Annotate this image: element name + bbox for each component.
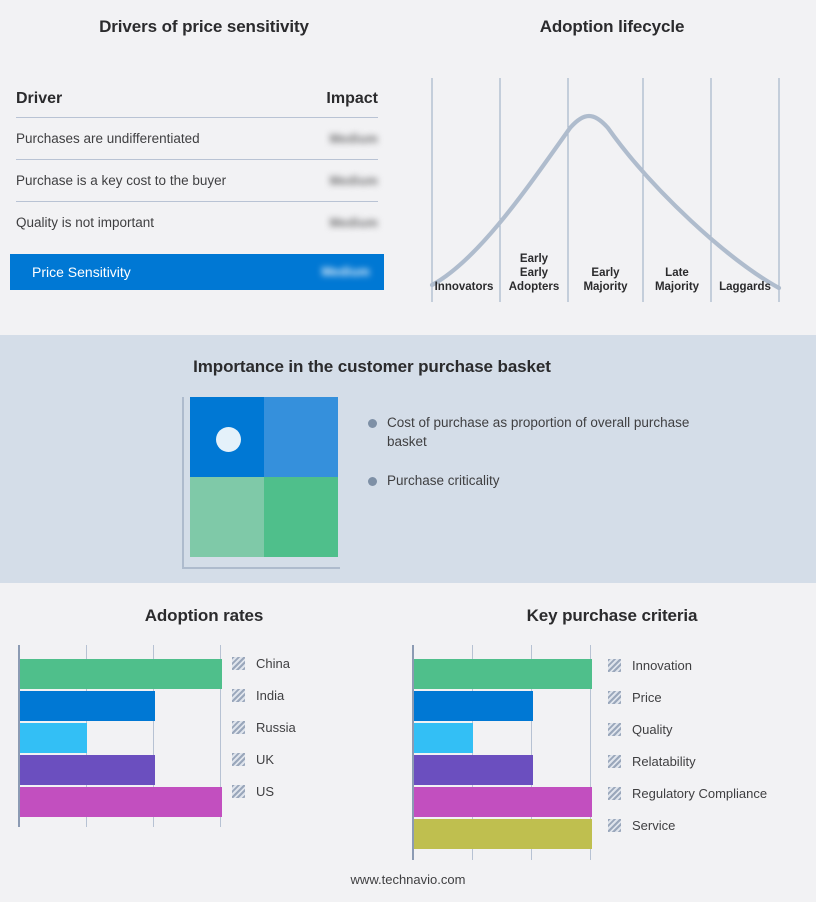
adoption-rates-title: Adoption rates bbox=[0, 606, 408, 626]
lifecycle-segment-late-majority: LateMajority bbox=[643, 266, 711, 294]
seg-text-early-majority: Majority bbox=[583, 281, 627, 293]
impact-value-cell: Medium bbox=[288, 214, 378, 232]
lifecycle-segment-laggards: Laggards bbox=[711, 280, 779, 294]
bar-regulatory-compliance bbox=[414, 787, 592, 817]
bar-russia bbox=[20, 723, 87, 753]
legend-swatch-icon bbox=[608, 819, 621, 832]
bullet-icon bbox=[368, 419, 377, 428]
purchase-basket-matrix bbox=[182, 397, 340, 569]
table-header-row: Driver Impact bbox=[16, 90, 378, 117]
matrix-quadrant-top-left bbox=[190, 397, 264, 477]
legend-label: China bbox=[256, 656, 290, 671]
lifecycle-chart: Innovators EarlyEarly Adopters EarlyMajo… bbox=[408, 70, 816, 310]
key-purchase-criteria-panel: Key purchase criteria InnovationPriceQua… bbox=[408, 583, 816, 902]
impact-value-cell: Medium bbox=[288, 172, 378, 190]
impact-value-redacted: Medium bbox=[322, 265, 370, 279]
legend-swatch-icon bbox=[608, 787, 621, 800]
footer-url: www.technavio.com bbox=[0, 872, 816, 887]
impact-value-redacted: Medium bbox=[330, 216, 378, 230]
legend-item: Quality bbox=[608, 713, 767, 745]
legend-swatch-icon bbox=[232, 721, 245, 734]
legend-item: UK bbox=[232, 743, 296, 775]
legend-item: Purchase criticality bbox=[368, 471, 698, 490]
legend-item: Russia bbox=[232, 711, 296, 743]
bar-relatability bbox=[414, 755, 533, 785]
key-purchase-criteria-title: Key purchase criteria bbox=[408, 606, 816, 626]
bar-service bbox=[414, 819, 592, 849]
drivers-title: Drivers of price sensitivity bbox=[0, 17, 408, 37]
price-sensitivity-summary-row: Price Sensitivity Medium bbox=[10, 254, 384, 290]
legend-item: Innovation bbox=[608, 649, 767, 681]
bar-china bbox=[20, 659, 222, 689]
lifecycle-segment-early-majority: EarlyMajority bbox=[568, 266, 643, 294]
legend-item: Relatability bbox=[608, 745, 767, 777]
lifecycle-segment-innovators: Innovators bbox=[428, 280, 500, 294]
matrix-quadrant-top-right bbox=[264, 397, 338, 477]
bar-uk bbox=[20, 755, 155, 785]
drivers-panel: Drivers of price sensitivity Driver Impa… bbox=[0, 0, 408, 335]
bar-series bbox=[20, 645, 221, 827]
legend-item: China bbox=[232, 647, 296, 679]
position-marker-dot bbox=[216, 427, 241, 452]
bar-us bbox=[20, 787, 222, 817]
lifecycle-segment-early-adopters: EarlyEarly Adopters bbox=[500, 252, 568, 294]
legend-item: Cost of purchase as proportion of overal… bbox=[368, 413, 698, 451]
driver-label: Quality is not important bbox=[16, 215, 288, 230]
legend-label: Innovation bbox=[632, 658, 692, 673]
legend-label: Cost of purchase as proportion of overal… bbox=[387, 413, 698, 451]
purchase-basket-title: Importance in the customer purchase bask… bbox=[0, 357, 744, 377]
impact-value-redacted: Medium bbox=[330, 132, 378, 146]
seg-text-early-adopters: Early Adopters bbox=[509, 267, 559, 293]
legend-swatch-icon bbox=[608, 755, 621, 768]
adoption-rates-panel: Adoption rates ChinaIndiaRussiaUKUS bbox=[0, 583, 408, 902]
bar-price bbox=[414, 691, 533, 721]
purchase-basket-panel: Importance in the customer purchase bask… bbox=[0, 335, 816, 583]
adoption-lifecycle-panel: Adoption lifecycle Innovators EarlyEarly… bbox=[408, 0, 816, 335]
adoption-lifecycle-title: Adoption lifecycle bbox=[408, 17, 816, 37]
driver-label: Purchase is a key cost to the buyer bbox=[16, 173, 288, 188]
legend-label: Russia bbox=[256, 720, 296, 735]
legend-label: UK bbox=[256, 752, 274, 767]
legend-item: Regulatory Compliance bbox=[608, 777, 767, 809]
legend-label: US bbox=[256, 784, 274, 799]
impact-value-redacted: Medium bbox=[330, 174, 378, 188]
legend-label: Price bbox=[632, 690, 662, 705]
legend-swatch-icon bbox=[608, 691, 621, 704]
legend-label: India bbox=[256, 688, 284, 703]
bullet-icon bbox=[368, 477, 377, 486]
table-row: Purchase is a key cost to the buyer Medi… bbox=[16, 159, 378, 201]
legend-item: India bbox=[232, 679, 296, 711]
impact-value-cell: Medium bbox=[280, 263, 370, 281]
legend-swatch-icon bbox=[608, 659, 621, 672]
legend-swatch-icon bbox=[608, 723, 621, 736]
table-row: Purchases are undifferentiated Medium bbox=[16, 117, 378, 159]
column-header-driver: Driver bbox=[16, 90, 288, 108]
legend-label: Service bbox=[632, 818, 675, 833]
legend-item: Price bbox=[608, 681, 767, 713]
key-purchase-criteria-plot bbox=[412, 645, 592, 860]
legend-swatch-icon bbox=[232, 753, 245, 766]
seg-text-late-majority: Majority bbox=[655, 281, 699, 293]
adoption-rates-plot bbox=[18, 645, 221, 827]
legend-item: Service bbox=[608, 809, 767, 841]
price-sensitivity-label: Price Sensitivity bbox=[32, 264, 280, 280]
legend-label: Relatability bbox=[632, 754, 696, 769]
purchase-basket-legend: Cost of purchase as proportion of overal… bbox=[368, 413, 698, 510]
matrix-quadrant-bottom-left bbox=[190, 477, 264, 557]
key-purchase-criteria-legend: InnovationPriceQualityRelatabilityRegula… bbox=[608, 649, 767, 841]
bar-innovation bbox=[414, 659, 592, 689]
legend-label: Regulatory Compliance bbox=[632, 786, 767, 801]
legend-swatch-icon bbox=[232, 689, 245, 702]
bar-india bbox=[20, 691, 155, 721]
column-header-impact: Impact bbox=[288, 90, 378, 108]
matrix-quadrants bbox=[190, 397, 338, 557]
table-row: Quality is not important Medium bbox=[16, 201, 378, 243]
bar-quality bbox=[414, 723, 473, 753]
impact-value-cell: Medium bbox=[288, 130, 378, 148]
drivers-table: Driver Impact Purchases are undifferenti… bbox=[16, 90, 378, 290]
matrix-quadrant-bottom-right bbox=[264, 477, 338, 557]
bar-series bbox=[414, 645, 592, 860]
legend-label: Purchase criticality bbox=[387, 471, 500, 490]
driver-label: Purchases are undifferentiated bbox=[16, 131, 288, 146]
legend-swatch-icon bbox=[232, 657, 245, 670]
lifecycle-segment-labels: Innovators EarlyEarly Adopters EarlyMajo… bbox=[408, 70, 816, 310]
legend-label: Quality bbox=[632, 722, 672, 737]
legend-swatch-icon bbox=[232, 785, 245, 798]
adoption-rates-legend: ChinaIndiaRussiaUKUS bbox=[232, 647, 296, 807]
legend-item: US bbox=[232, 775, 296, 807]
